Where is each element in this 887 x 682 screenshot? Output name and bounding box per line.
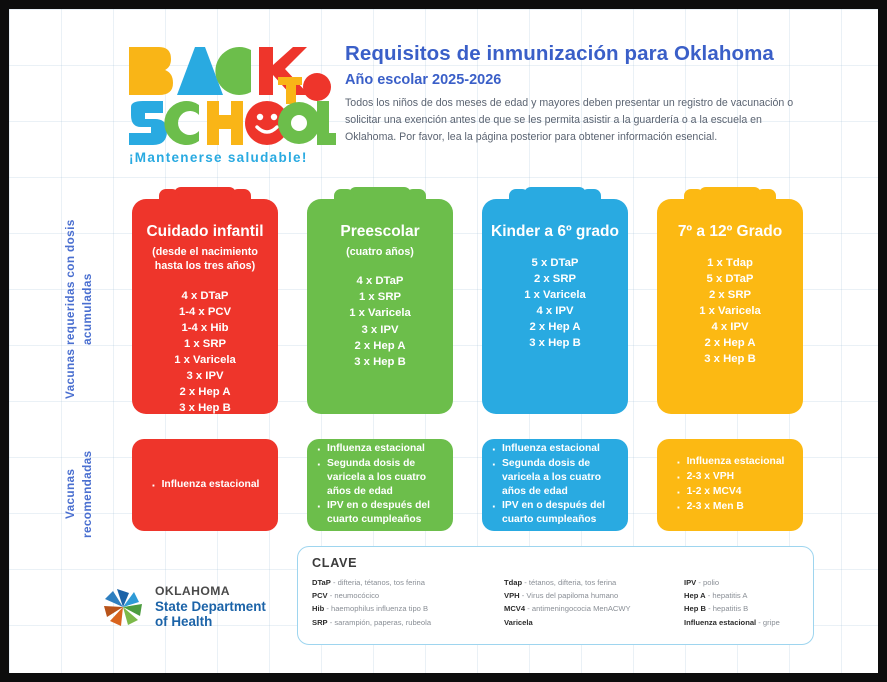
clave-def: - antimeningococia MenACWY — [525, 604, 631, 613]
dose-item: 2 x SRP — [490, 271, 620, 287]
clave-def: - hepatitis A — [706, 591, 748, 600]
card-kinder-a-6-grado[interactable]: Kinder a 6º grado 5 x DTaP 2 x SRP 1 x V… — [482, 199, 628, 414]
dose-item: 1 x Tdap — [665, 255, 795, 271]
dose-item: 4 x IPV — [490, 303, 620, 319]
clave-entry: SRP - sarampión, paperas, rubeola — [312, 616, 504, 629]
header-text-block: Requisitos de inmunización para Oklahoma… — [345, 41, 815, 146]
clave-column-2: Tdap - tétanos, difteria, tos ferina VPH… — [504, 576, 684, 629]
recommended-item: IPV en o después del cuarto cumpleaños — [502, 499, 619, 527]
clave-column-1: DTaP - difteria, tétanos, tos ferina PCV… — [312, 576, 504, 629]
dose-item: 1 x SRP — [315, 289, 445, 305]
recommended-item: Influenza estacional — [327, 442, 444, 456]
clave-def: - tétanos, difteria, tos ferina — [522, 578, 616, 587]
recommended-item: Segunda dosis de varicela a los cuatro a… — [327, 457, 444, 498]
dose-item: 1-4 x PCV — [140, 304, 270, 320]
card-preescolar[interactable]: Preescolar (cuatro años) 4 x DTaP 1 x SR… — [307, 199, 453, 414]
card-7-a-12-grado[interactable]: 7º a 12º Grado 1 x Tdap 5 x DTaP 2 x SRP… — [657, 199, 803, 414]
dose-item: 3 x IPV — [140, 368, 270, 384]
clave-entry: PCV - neumocócico — [312, 589, 504, 602]
clave-term: Hep A — [684, 591, 706, 600]
clave-entry: VPH - Virus del papiloma humano — [504, 589, 684, 602]
clave-term: MCV4 — [504, 604, 525, 613]
clave-entry: IPV - polio — [684, 576, 780, 589]
card-title: Kinder a 6º grado — [490, 223, 620, 241]
card-tab-icon — [349, 187, 411, 203]
dose-item: 1 x Varicela — [140, 352, 270, 368]
recommended-item: 2-3 x Men B — [687, 500, 785, 514]
recommended-item: Segunda dosis de varicela a los cuatro a… — [502, 457, 619, 498]
logo-tagline-text: ¡Mantenerse saludable! — [129, 150, 308, 165]
card-title: 7º a 12º Grado — [665, 223, 795, 241]
dose-item: 2 x Hep A — [490, 319, 620, 335]
dose-item: 4 x IPV — [665, 319, 795, 335]
clave-term: DTaP — [312, 578, 331, 587]
clave-term: Varicela — [504, 618, 533, 627]
clave-term: Hib — [312, 604, 324, 613]
dose-item: 3 x IPV — [315, 322, 445, 338]
card-title: Preescolar — [315, 223, 445, 241]
dose-item: 2 x Hep A — [140, 384, 270, 400]
dose-item: 1 x Varicela — [490, 287, 620, 303]
recommended-item: 1-2 x MCV4 — [687, 485, 785, 499]
dose-item: 5 x DTaP — [490, 255, 620, 271]
recommended-card-kinder-a-6-grado[interactable]: Influenza estacional Segunda dosis de va… — [482, 439, 628, 531]
clave-title: CLAVE — [312, 556, 799, 570]
clave-entry: Hep B - hepatitis B — [684, 602, 780, 615]
card-dose-list: 4 x DTaP 1-4 x PCV 1-4 x Hib 1 x SRP 1 x… — [140, 288, 270, 416]
clave-def: - sarampión, paperas, rubeola — [328, 618, 431, 627]
agency-line-3: of Health — [155, 614, 266, 630]
dose-item: 3 x Hep B — [140, 400, 270, 416]
dose-item: 5 x DTaP — [665, 271, 795, 287]
recommended-list: Influenza estacional — [151, 478, 260, 493]
dose-item: 1 x Varicela — [665, 303, 795, 319]
clave-term: IPV — [684, 578, 696, 587]
dose-item: 2 x SRP — [665, 287, 795, 303]
dose-item: 4 x DTaP — [140, 288, 270, 304]
dose-item: 1 x Varicela — [315, 305, 445, 321]
clave-term: Influenza estacional — [684, 618, 756, 627]
clave-columns: DTaP - difteria, tétanos, tos ferina PCV… — [312, 576, 799, 629]
page-title: Requisitos de inmunización para Oklahoma — [345, 41, 815, 67]
clave-term: Tdap — [504, 578, 522, 587]
clave-column-3: IPV - polio Hep A - hepatitis A Hep B - … — [684, 576, 780, 629]
recommended-card-7-a-12-grado[interactable]: Influenza estacional 2-3 x VPH 1-2 x MCV… — [657, 439, 803, 531]
clave-def: - polio — [696, 578, 719, 587]
poster-header: ¡Mantenerse saludable! Requisitos de inm… — [9, 9, 878, 179]
back-to-school-logo: ¡Mantenerse saludable! — [121, 35, 336, 165]
clave-def: - hepatitis B — [706, 604, 748, 613]
clave-term: VPH — [504, 591, 520, 600]
osdh-pinwheel-icon — [101, 585, 145, 629]
card-tab-icon — [699, 187, 761, 203]
clave-def: - haemophilus influenza tipo B — [324, 604, 428, 613]
dose-item: 3 x Hep B — [490, 335, 620, 351]
agency-line-2: State Department — [155, 599, 266, 615]
card-subtitle: (cuatro años) — [315, 245, 445, 259]
dose-item: 1 x SRP — [140, 336, 270, 352]
row-label-required: Vacunas requeridas con dosis acumuladas — [62, 199, 108, 419]
clave-term: Hep B — [684, 604, 706, 613]
clave-def: - gripe — [756, 618, 780, 627]
school-year-subtitle: Año escolar 2025-2026 — [345, 72, 815, 88]
clave-def: - difteria, tétanos, tos ferina — [331, 578, 425, 587]
oklahoma-state-department-of-health-logo: OKLAHOMA State Department of Health — [101, 578, 291, 636]
recommended-card-preescolar[interactable]: Influenza estacional Segunda dosis de va… — [307, 439, 453, 531]
dose-item: 3 x Hep B — [315, 354, 445, 370]
clave-entry: Varicela — [504, 616, 684, 629]
clave-term: PCV — [312, 591, 328, 600]
osdh-wordmark: OKLAHOMA State Department of Health — [155, 584, 266, 629]
recommended-card-cuidado-infantil[interactable]: Influenza estacional — [132, 439, 278, 531]
clave-entry: Hib - haemophilus influenza tipo B — [312, 602, 504, 615]
recommended-item: Influenza estacional — [502, 442, 619, 456]
agency-line-1: OKLAHOMA — [155, 584, 266, 598]
dose-item: 2 x Hep A — [665, 335, 795, 351]
row-label-recommended: Vacunas recomendadas — [62, 439, 108, 549]
clave-key-box: CLAVE DTaP - difteria, tétanos, tos feri… — [297, 546, 814, 645]
recommended-item: 2-3 x VPH — [687, 470, 785, 484]
recommended-list: Influenza estacional 2-3 x VPH 1-2 x MCV… — [676, 455, 785, 514]
dose-item: 2 x Hep A — [315, 338, 445, 354]
clave-term: SRP — [312, 618, 328, 627]
dose-item: 3 x Hep B — [665, 351, 795, 367]
clave-entry: DTaP - difteria, tétanos, tos ferina — [312, 576, 504, 589]
card-title: Cuidado infantil — [140, 223, 270, 241]
clave-def: - neumocócico — [328, 591, 380, 600]
clave-entry: Tdap - tétanos, difteria, tos ferina — [504, 576, 684, 589]
recommended-item: IPV en o después del cuarto cumpleaños — [327, 499, 444, 527]
recommended-list: Influenza estacional Segunda dosis de va… — [491, 442, 619, 528]
recommended-list: Influenza estacional Segunda dosis de va… — [316, 442, 444, 528]
clave-entry: MCV4 - antimeningococia MenACWY — [504, 602, 684, 615]
clave-def: - Virus del papiloma humano — [520, 591, 619, 600]
card-dose-list: 1 x Tdap 5 x DTaP 2 x SRP 1 x Varicela 4… — [665, 255, 795, 367]
header-description: Todos los niños de dos meses de edad y m… — [345, 95, 815, 146]
card-dose-list: 4 x DTaP 1 x SRP 1 x Varicela 3 x IPV 2 … — [315, 273, 445, 369]
card-tab-icon — [524, 187, 586, 203]
card-dose-list: 5 x DTaP 2 x SRP 1 x Varicela 4 x IPV 2 … — [490, 255, 620, 351]
dose-item: 1-4 x Hib — [140, 320, 270, 336]
clave-entry: Hep A - hepatitis A — [684, 589, 780, 602]
recommended-item: Influenza estacional — [162, 478, 260, 492]
card-tab-icon — [174, 187, 236, 203]
recommended-item: Influenza estacional — [687, 455, 785, 469]
card-subtitle: (desde el nacimiento hasta los tres años… — [140, 245, 270, 273]
dose-item: 4 x DTaP — [315, 273, 445, 289]
card-cuidado-infantil[interactable]: Cuidado infantil (desde el nacimiento ha… — [132, 199, 278, 414]
clave-entry: Influenza estacional - gripe — [684, 616, 780, 629]
poster-page: ¡Mantenerse saludable! Requisitos de inm… — [9, 9, 878, 673]
